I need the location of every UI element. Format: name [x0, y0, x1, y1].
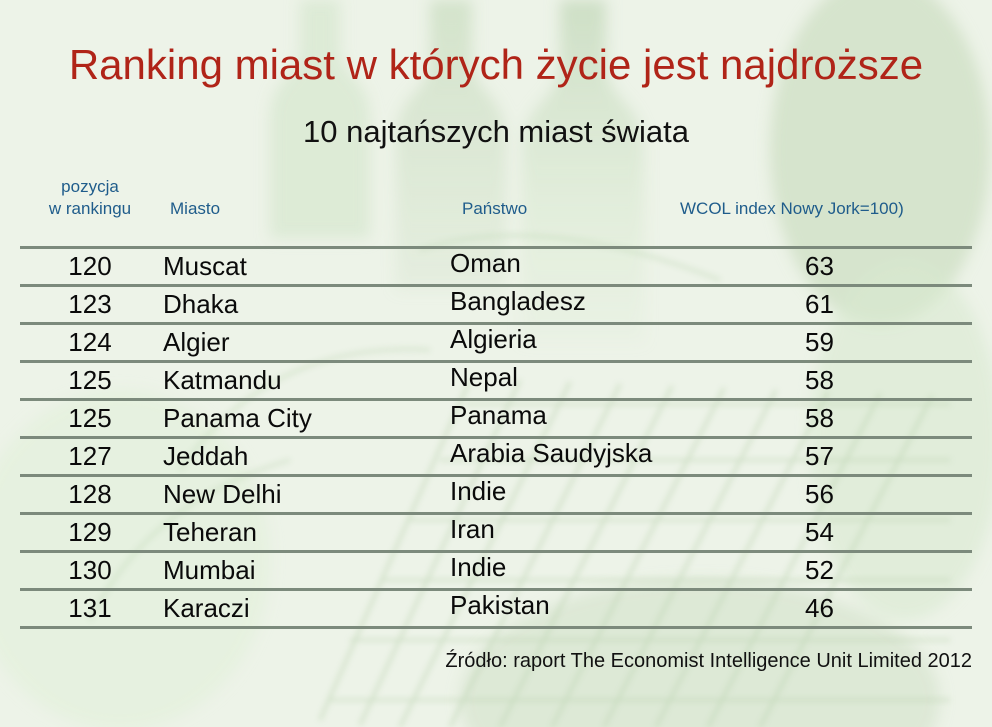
cell-index: 59 — [805, 325, 834, 360]
column-header-city: Miasto — [170, 198, 220, 220]
cell-index: 56 — [805, 477, 834, 512]
cell-city: Jeddah — [163, 439, 248, 474]
cell-city: Mumbai — [163, 553, 255, 588]
cell-rank: 129 — [30, 515, 150, 550]
cell-city: Karaczi — [163, 591, 250, 626]
cell-country: Oman — [450, 246, 521, 281]
cell-rank: 128 — [30, 477, 150, 512]
cell-country: Algieria — [450, 322, 537, 357]
cell-index: 63 — [805, 249, 834, 284]
cell-city: Panama City — [163, 401, 312, 436]
cell-index: 61 — [805, 287, 834, 322]
cell-city: Muscat — [163, 249, 247, 284]
cell-country: Nepal — [450, 360, 518, 395]
cell-city: Dhaka — [163, 287, 238, 322]
table-row: 130MumbaiIndie52 — [0, 553, 992, 588]
table-row: 123DhakaBangladesz61 — [0, 287, 992, 322]
cell-city: New Delhi — [163, 477, 282, 512]
cell-city: Teheran — [163, 515, 257, 550]
table-row: 120MuscatOman63 — [0, 249, 992, 284]
table-row: 125KatmanduNepal58 — [0, 363, 992, 398]
column-header-index: WCOL index Nowy Jork=100) — [680, 198, 904, 220]
table-row: 124AlgierAlgieria59 — [0, 325, 992, 360]
cell-rank: 130 — [30, 553, 150, 588]
slide-subtitle: 10 najtańszych miast świata — [0, 113, 992, 151]
cell-country: Arabia Saudyjska — [450, 436, 652, 471]
cell-index: 46 — [805, 591, 834, 626]
cell-index: 57 — [805, 439, 834, 474]
cell-city: Katmandu — [163, 363, 282, 398]
cell-country: Pakistan — [450, 588, 550, 623]
cell-index: 58 — [805, 401, 834, 436]
cell-country: Indie — [450, 474, 506, 509]
cell-rank: 125 — [30, 363, 150, 398]
cell-index: 58 — [805, 363, 834, 398]
cell-rank: 124 — [30, 325, 150, 360]
column-header-country: Państwo — [462, 198, 527, 220]
table-row: 127JeddahArabia Saudyjska57 — [0, 439, 992, 474]
cell-rank: 125 — [30, 401, 150, 436]
slide-title: Ranking miast w których życie jest najdr… — [0, 40, 992, 90]
table-row-divider — [20, 626, 972, 629]
column-header-rank: pozycja w rankingu — [30, 176, 150, 220]
slide-canvas: Ranking miast w których życie jest najdr… — [0, 0, 992, 727]
table-row: 125Panama CityPanama58 — [0, 401, 992, 436]
cell-city: Algier — [163, 325, 229, 360]
table-row: 128New DelhiIndie56 — [0, 477, 992, 512]
cell-rank: 127 — [30, 439, 150, 474]
table-row: 129TeheranIran54 — [0, 515, 992, 550]
table-row: 131KaracziPakistan46 — [0, 591, 992, 626]
cell-index: 52 — [805, 553, 834, 588]
cell-rank: 120 — [30, 249, 150, 284]
cell-rank: 131 — [30, 591, 150, 626]
cell-country: Bangladesz — [450, 284, 586, 319]
ranking-table: 120MuscatOman63123DhakaBangladesz61124Al… — [0, 246, 992, 629]
cell-country: Panama — [450, 398, 547, 433]
source-note: Źródło: raport The Economist Intelligenc… — [0, 648, 972, 674]
cell-rank: 123 — [30, 287, 150, 322]
cell-country: Indie — [450, 550, 506, 585]
cell-country: Iran — [450, 512, 495, 547]
cell-index: 54 — [805, 515, 834, 550]
